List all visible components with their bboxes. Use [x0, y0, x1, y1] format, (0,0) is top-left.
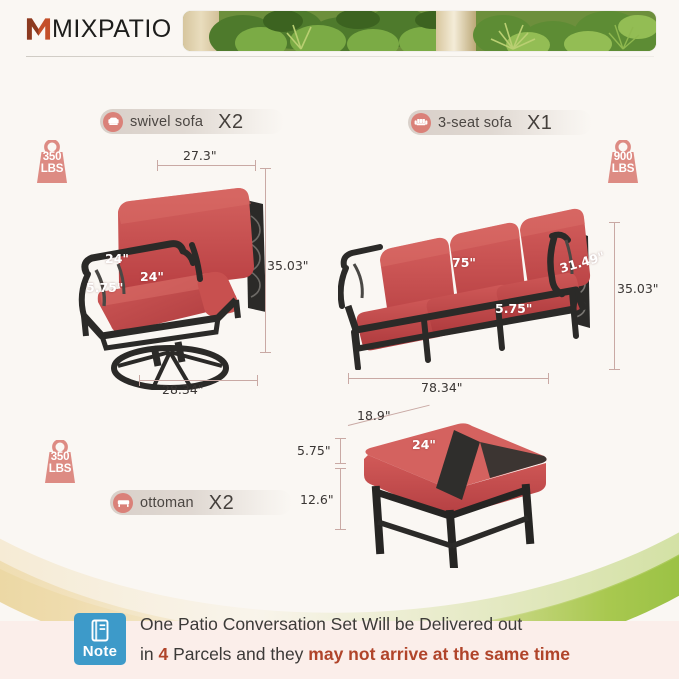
note-message: One Patio Conversation Set Will be Deliv…	[140, 609, 660, 669]
weight-badge-text: 900 LBS	[601, 152, 645, 175]
dimline-sofa-width	[349, 378, 549, 379]
pill-ottoman[interactable]: ottoman X2	[110, 490, 292, 515]
dim-ottoman-length: 24"	[412, 437, 436, 452]
banner-foliage	[183, 11, 656, 51]
dim-sofa-seat-width: 75"	[452, 255, 476, 270]
three-seat-sofa-illustration	[338, 190, 628, 370]
sofa-glyph	[414, 117, 428, 128]
tick	[255, 160, 256, 171]
pill-qty: X2	[209, 493, 234, 513]
dim-swivel-height: 35.03"	[267, 258, 309, 273]
weight-badge-text: 350 LBS	[38, 452, 82, 475]
dim-ottoman-width: 18.9"	[357, 408, 391, 423]
dim-sofa-width: 78.34"	[421, 380, 463, 395]
dimline-ottoman-leg	[340, 468, 341, 530]
dim-ottoman-leg-height: 12.6"	[300, 492, 334, 507]
m-monogram-icon	[26, 16, 51, 42]
dim-swivel-width: 27.3"	[183, 148, 217, 163]
tick	[609, 369, 620, 370]
dim-swivel-cushion: 5.75"	[86, 280, 123, 295]
tick	[139, 375, 140, 386]
dimline-swivel-height	[265, 168, 266, 353]
pill-label: swivel sofa	[130, 114, 203, 130]
page-header: MIXPATIO	[0, 0, 679, 66]
dimline-swivel-depth	[140, 380, 258, 381]
pill-label: 3-seat sofa	[438, 115, 512, 131]
tick	[260, 352, 271, 353]
header-divider	[26, 56, 654, 57]
note-line2-middle: Parcels and they	[168, 644, 308, 664]
product-spec-page: MIXPATIO	[0, 0, 679, 679]
weight-badge-ottoman: 350 LBS	[38, 440, 82, 486]
ottoman-glyph	[117, 498, 130, 508]
dimline-ottoman-cushion	[340, 438, 341, 464]
armchair-icon	[103, 112, 123, 132]
tick	[609, 222, 620, 223]
delivery-note-bar: Note One Patio Conversation Set Will be …	[0, 601, 679, 679]
weight-value: 350	[38, 452, 82, 464]
weight-unit: LBS	[38, 464, 82, 476]
tick	[335, 468, 346, 469]
dim-sofa-height: 35.03"	[617, 281, 659, 296]
figure-ottoman	[330, 418, 570, 568]
dimline-swivel-width	[158, 165, 256, 166]
note-parcel-count: 4	[158, 644, 168, 664]
tick	[335, 438, 346, 439]
pill-three-seat-sofa[interactable]: 3-seat sofa X1	[408, 110, 592, 135]
pill-label: ottoman	[140, 495, 194, 511]
tick	[335, 529, 346, 530]
pill-swivel-sofa[interactable]: swivel sofa X2	[100, 109, 284, 134]
weight-unit: LBS	[601, 164, 645, 176]
tick	[348, 373, 349, 384]
ottoman-icon	[113, 493, 133, 513]
weight-value: 900	[601, 152, 645, 164]
figure-three-seat-sofa	[338, 190, 628, 370]
note-badge-label: Note	[83, 644, 118, 659]
ottoman-illustration	[330, 418, 570, 568]
note-emphasis: may not arrive at the same time	[308, 644, 570, 664]
sofa-icon	[411, 113, 431, 133]
armchair-glyph	[107, 116, 120, 128]
brand-name: MIXPATIO	[52, 16, 172, 42]
brand-logo: MIXPATIO	[26, 14, 172, 44]
tick	[335, 463, 346, 464]
dim-sofa-cushion: 5.75"	[495, 301, 532, 316]
note-badge: Note	[74, 613, 126, 665]
dim-swivel-seat-depth: 24"	[140, 269, 164, 284]
dim-swivel-depth: 28.34"	[162, 382, 204, 397]
dim-ottoman-cushion: 5.75"	[297, 443, 331, 458]
dim-swivel-back-height: 24"	[105, 251, 129, 266]
weight-badge-sofa: 900 LBS	[601, 140, 645, 186]
dimline-sofa-height	[614, 222, 615, 370]
notebook-icon	[90, 619, 110, 642]
note-line-1: One Patio Conversation Set Will be Deliv…	[140, 609, 660, 639]
tick	[257, 375, 258, 386]
note-line2-prefix: in	[140, 644, 158, 664]
pill-qty: X1	[527, 113, 552, 133]
tick	[260, 168, 271, 169]
tick	[157, 160, 158, 171]
note-line-2: in 4 Parcels and they may not arrive at …	[140, 639, 660, 669]
pill-qty: X2	[218, 112, 243, 132]
tick	[548, 373, 549, 384]
hero-banner-image	[183, 11, 656, 51]
